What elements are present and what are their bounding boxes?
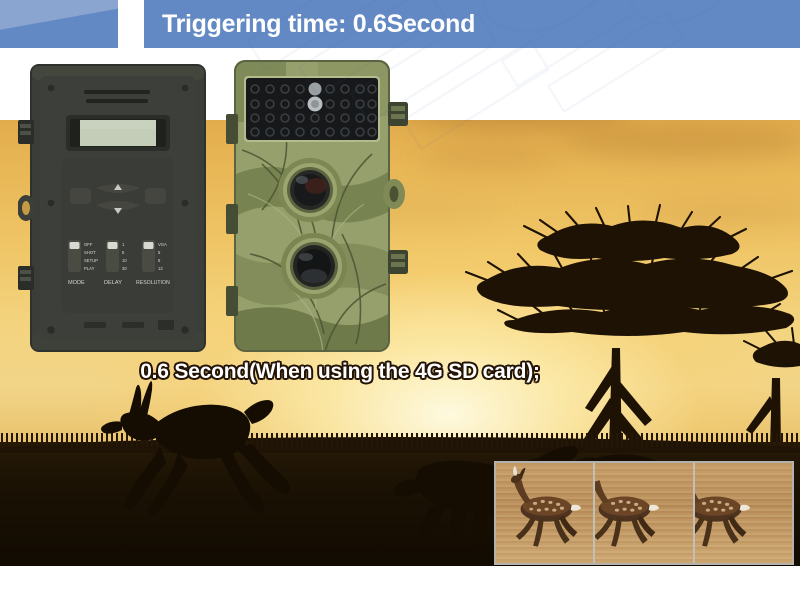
deer-photo (496, 463, 593, 563)
svg-text:SETUP: SETUP (84, 258, 98, 263)
sequence-frame-1 (496, 463, 595, 563)
banner-header: Triggering time: 0.6Second (0, 0, 800, 48)
deer-photo (595, 463, 671, 563)
svg-text:PLAY: PLAY (84, 266, 95, 271)
svg-text:MODE: MODE (68, 280, 85, 286)
camera-lens-lower (281, 233, 347, 299)
svg-text:10: 10 (122, 258, 127, 263)
ok-button (145, 188, 166, 204)
svg-text:VGA: VGA (158, 242, 167, 247)
bottom-white-strip (0, 566, 800, 599)
header-title-bar: Triggering time: 0.6Second (144, 0, 800, 48)
cloud-band (560, 124, 800, 158)
trail-camera-interior: OFF SHOT SETUP PLAY MODE 1 5 10 30 DELAY (18, 58, 218, 358)
burst-capture-sequence (494, 461, 794, 565)
header-title: Triggering time: 0.6Second (162, 10, 475, 39)
scene-canvas: OFF SHOT SETUP PLAY MODE 1 5 10 30 DELAY (0, 48, 800, 566)
svg-text:RESOLUTION: RESOLUTION (136, 280, 170, 286)
sequence-frame-2 (595, 463, 694, 563)
svg-text:30: 30 (122, 266, 127, 271)
camera-lens-upper (278, 158, 342, 222)
scene-caption: 0.6 Second(When using the 4G SD card); (0, 360, 680, 384)
svg-text:OFF: OFF (84, 242, 93, 247)
svg-text:SHOT: SHOT (84, 250, 96, 255)
svg-text:DELAY: DELAY (104, 280, 122, 286)
cloud-band (420, 144, 560, 170)
ir-led-panel (244, 76, 380, 142)
menu-button (70, 188, 91, 204)
grass-texture (0, 433, 800, 447)
sequence-frame-3 (695, 463, 792, 563)
svg-text:12: 12 (158, 266, 163, 271)
header-white-gap (118, 0, 144, 48)
trail-camera-front-camo (222, 54, 418, 359)
pir-sensor-upper (309, 83, 322, 96)
deer-photo (695, 463, 763, 563)
product-banner: Triggering time: 0.6Second (0, 0, 800, 599)
